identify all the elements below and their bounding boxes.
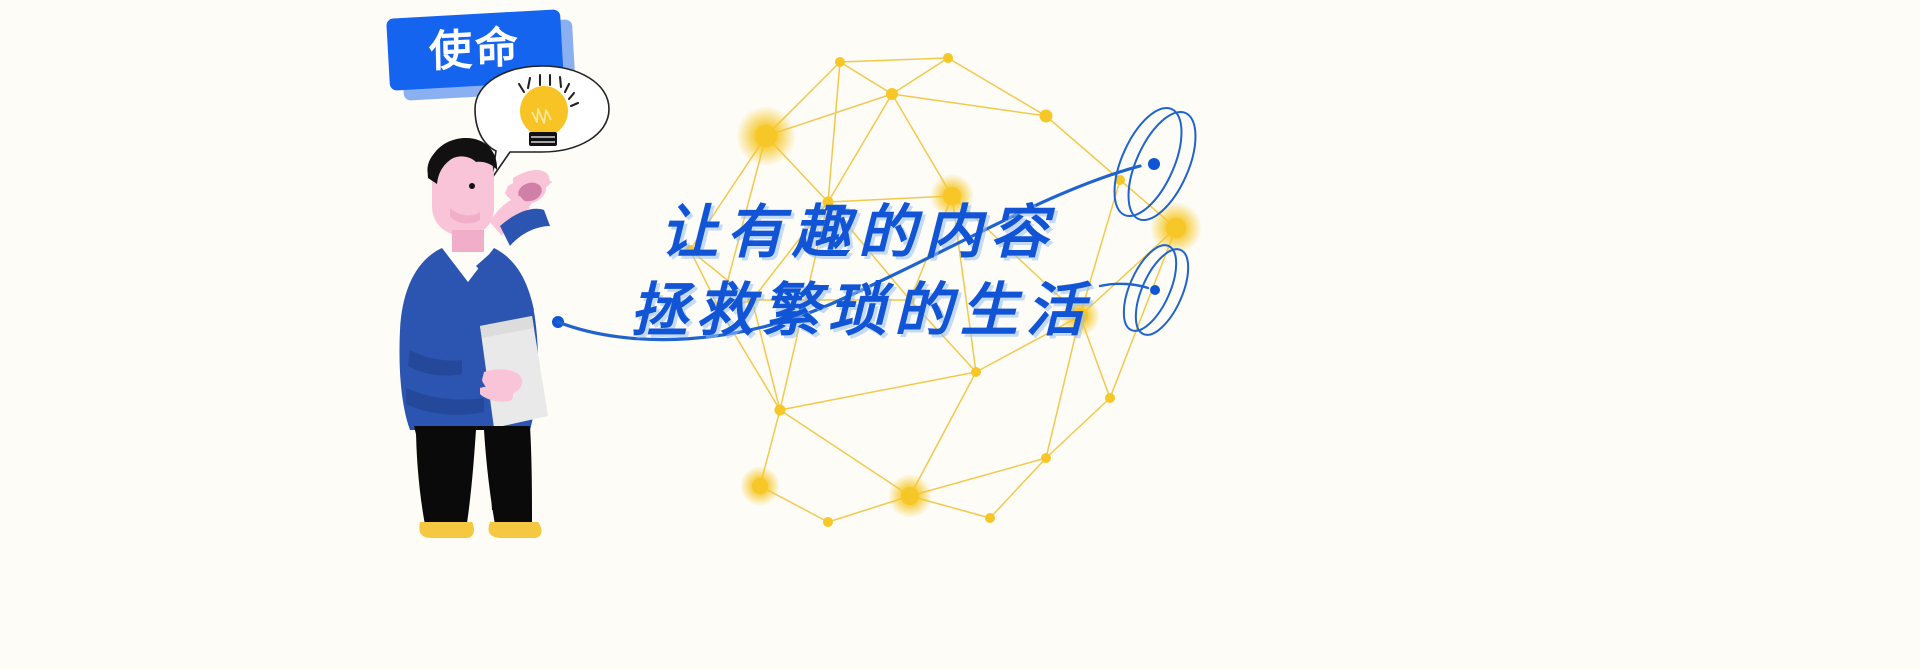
- headline-block: 让有趣的内容 拯救繁琐的生活: [660, 196, 1280, 346]
- neck: [452, 230, 484, 252]
- eye: [469, 183, 475, 189]
- shoe-left: [419, 522, 474, 538]
- trouser-leg-left: [416, 426, 476, 530]
- mission-banner: 使命: [0, 0, 1920, 670]
- shoe-right: [489, 522, 542, 538]
- headline-line-2: 拯救繁琐的生活: [630, 274, 1280, 346]
- trouser-leg-right: [484, 426, 532, 530]
- headline-line-1: 让有趣的内容: [660, 196, 1280, 268]
